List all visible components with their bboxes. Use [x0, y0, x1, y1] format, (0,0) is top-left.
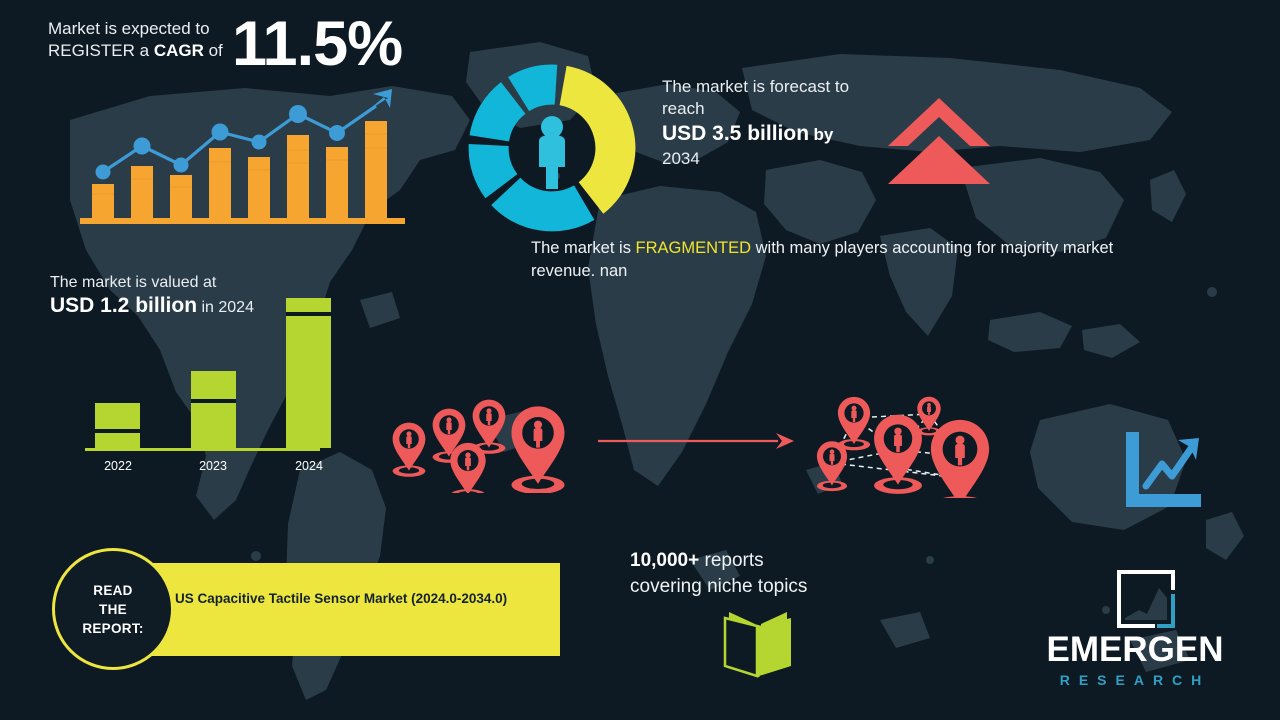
reports-count: 10,000+ [630, 550, 699, 571]
map-pin [838, 397, 870, 450]
reports-text-block: 10,000+ reports covering niche topics [630, 548, 890, 600]
forecast-text-block: The market is forecast to reach USD 3.5 … [662, 76, 902, 171]
cta-line-2: THE [82, 600, 143, 619]
cagr-keyword: CAGR [154, 41, 204, 60]
fragmentation-pre: The market is [531, 239, 636, 257]
person-icon [539, 116, 565, 189]
green-bar-label-2023: 2023 [183, 459, 243, 473]
cta-line-1: READ [82, 581, 143, 600]
fragmentation-post: with many players accounting for majorit… [751, 239, 1113, 257]
green-bar-notch [191, 399, 236, 403]
green-bar-2024 [286, 298, 331, 448]
fragmentation-line-2: revenue. nan [531, 260, 1211, 283]
chart-baseline [80, 218, 405, 224]
green-bar-2023 [191, 371, 236, 448]
orange-growth-chart [70, 84, 415, 224]
fragmentation-text-block: The market is FRAGMENTED with many playe… [531, 237, 1211, 283]
map-pin [874, 415, 922, 494]
forecast-lead-1: The market is forecast to [662, 76, 902, 98]
cagr-value: 11.5% [232, 13, 402, 76]
logo-subtitle: RESEARCH [1020, 672, 1250, 688]
line-chart-up-icon [1122, 430, 1204, 512]
forecast-value: USD 3.5 billion [662, 122, 809, 145]
open-book-icon [715, 608, 801, 680]
cta-line-3: REPORT: [82, 619, 143, 638]
donut-market-share-chart [462, 58, 642, 238]
forecast-year: 2034 [662, 147, 902, 171]
logo-name: EMERGEN [1020, 630, 1250, 670]
donut-segment-cyan-4 [519, 85, 556, 95]
cagr-register-pre: REGISTER a [48, 41, 154, 60]
right-arrow-icon [596, 430, 796, 452]
map-pin [511, 406, 564, 493]
cagr-register-post: of [204, 41, 223, 60]
green-bar-label-2022: 2022 [88, 459, 148, 473]
green-chart-axis [85, 448, 320, 451]
map-pin [450, 443, 485, 493]
read-the-report-badge[interactable]: READ THE REPORT: [52, 548, 174, 670]
donut-segment-cyan-3 [489, 98, 513, 138]
map-pin [817, 441, 847, 491]
forecast-value-row: USD 3.5 billion by [662, 120, 902, 147]
green-bar-notch [286, 312, 331, 316]
fragmentation-line-1: The market is FRAGMENTED with many playe… [531, 237, 1211, 260]
green-bar-notch [95, 429, 140, 433]
fragmentation-highlight: FRAGMENTED [636, 239, 752, 257]
double-chevron-up-icon [884, 94, 994, 186]
green-valuation-chart: 2022 2023 2024 [75, 290, 335, 475]
green-bar-label-2024: 2024 [279, 459, 339, 473]
forecast-lead-2: reach [662, 98, 902, 120]
reports-word: reports [699, 550, 763, 571]
donut-segment-cyan-1 [506, 191, 584, 211]
green-bar-2022 [95, 403, 140, 448]
infographic-canvas: Market is expected to REGISTER a CAGR of… [0, 0, 1280, 720]
donut-segment-cyan-2 [489, 145, 502, 186]
map-pin [931, 420, 989, 498]
forecast-by-label: by [813, 125, 833, 144]
logo-mark-icon [1115, 568, 1177, 630]
map-pin-person-icon-group-left [385, 388, 580, 493]
read-the-report-bar[interactable]: US Capacitive Tactile Sensor Market (202… [150, 563, 560, 656]
map-pin [917, 397, 940, 436]
read-the-report-label: READ THE REPORT: [55, 551, 171, 667]
reports-line-1: 10,000+ reports [630, 548, 890, 574]
emergen-research-logo: EMERGEN RESEARCH [1020, 568, 1250, 688]
map-pin-network-icon-group-right [812, 388, 1012, 498]
reports-line-2: covering niche topics [630, 574, 890, 600]
map-pin [393, 423, 426, 477]
report-title: US Capacitive Tactile Sensor Market (202… [175, 585, 535, 613]
donut-segment-yellow [563, 86, 615, 198]
